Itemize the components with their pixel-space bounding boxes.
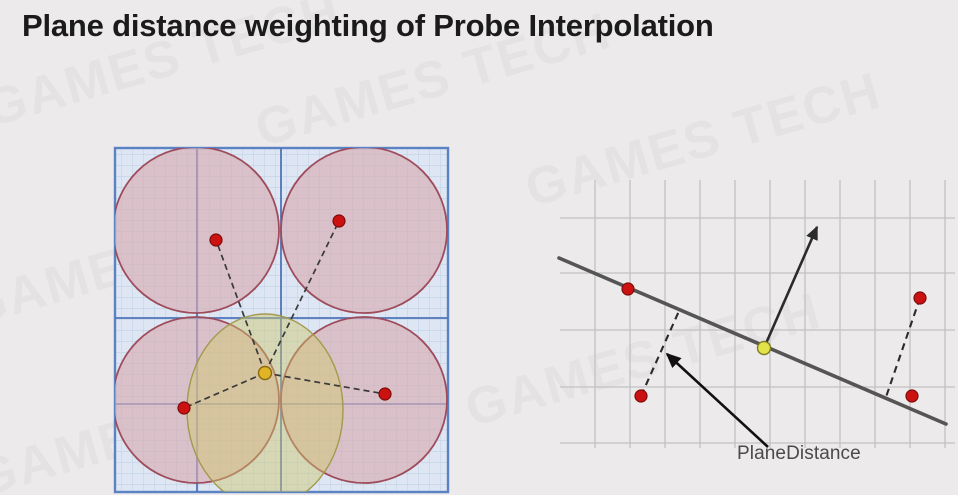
probe-point-bottom-left: [178, 402, 190, 414]
page-title: Plane distance weighting of Probe Interp…: [22, 8, 714, 44]
probe-circle-top-left: [113, 147, 279, 313]
probe-above-right: [914, 292, 926, 304]
probe-on-plane-right: [906, 390, 918, 402]
probe-point-top-right: [333, 215, 345, 227]
grid-lines: [560, 180, 955, 448]
probe-point-bottom-right: [379, 388, 391, 400]
plane-distance-callout-arrow: [667, 354, 768, 447]
probe-point-top-left: [210, 234, 222, 246]
sample-point: [758, 342, 771, 355]
sample-point: [259, 367, 272, 380]
plane-distance-dashed-left: [641, 311, 679, 396]
probe-on-plane-left: [622, 283, 634, 295]
surface-plane-line: [559, 258, 946, 424]
plane-distance-dashed-right: [886, 298, 920, 397]
probe-below-left: [635, 390, 647, 402]
plane-distance-label: PlaneDistance: [737, 443, 861, 465]
interpolation-ellipse: [187, 314, 343, 495]
probe-points: [622, 283, 926, 402]
probe-grid-diagram: [108, 142, 456, 495]
